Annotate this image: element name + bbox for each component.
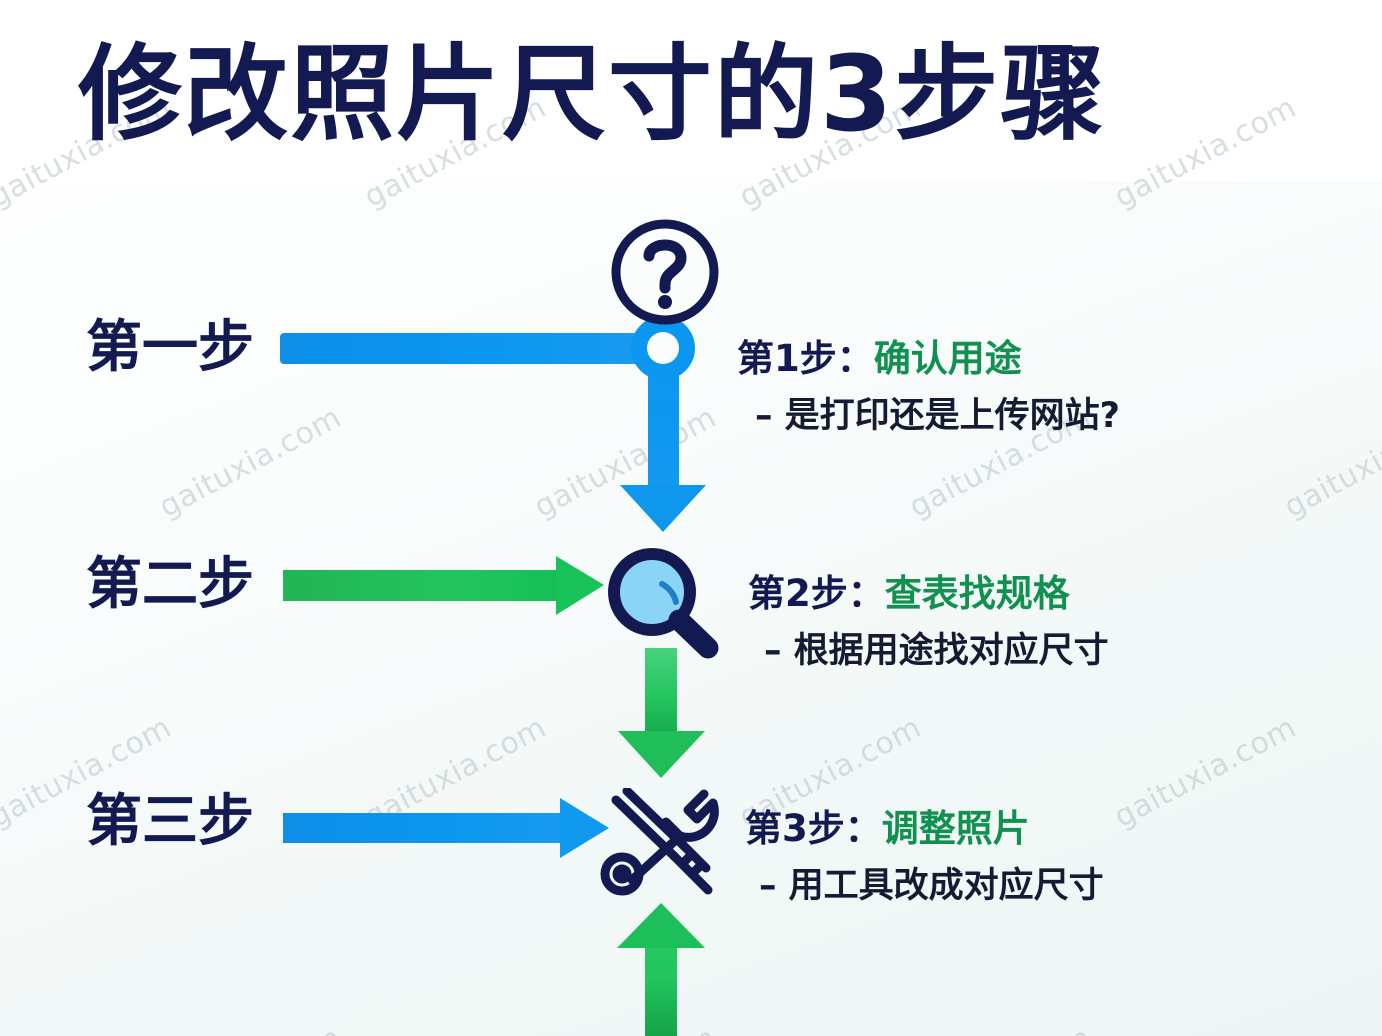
connector-step2-arrow — [283, 556, 604, 615]
step-3-detail: – 用工具改成对应尺寸 — [745, 864, 1104, 908]
step-1-heading: 第1步：确认用途 — [737, 336, 1120, 382]
step-1-title: 确认用途 — [874, 337, 1022, 380]
step-label-three: 第三步 — [86, 792, 254, 852]
step-description-1: 第1步：确认用途 – 是打印还是上传网站? — [737, 336, 1120, 438]
step-2-title: 查表找规格 — [885, 572, 1070, 615]
wrench-screwdriver-icon — [596, 788, 724, 898]
question-mark-circle-icon — [607, 216, 723, 328]
connector-step2-to-step3-arrow — [618, 648, 705, 778]
step-3-prefix: 第3步： — [745, 807, 882, 850]
step-1-prefix: 第1步： — [737, 337, 874, 380]
magnifier-icon — [600, 542, 724, 664]
infographic-canvas: gaituxia.comgaituxia.comgaituxia.comgait… — [0, 0, 1382, 1036]
connector-step1-bar — [280, 316, 695, 468]
step-description-3: 第3步：调整照片 – 用工具改成对应尺寸 — [745, 806, 1104, 908]
step-1-detail: – 是打印还是上传网站? — [737, 394, 1120, 438]
step-2-heading: 第2步：查表找规格 — [748, 571, 1109, 617]
connector-bottom-up-arrow — [617, 903, 705, 1036]
connector-step1-to-step2-arrow — [620, 400, 706, 532]
step-label-two: 第二步 — [86, 555, 254, 615]
step-label-one: 第一步 — [86, 318, 254, 378]
step-2-prefix: 第2步： — [748, 572, 885, 615]
step-3-heading: 第3步：调整照片 — [745, 806, 1104, 852]
connector-step3-arrow — [283, 798, 609, 858]
step-2-detail: – 根据用途找对应尺寸 — [748, 629, 1109, 673]
step-description-2: 第2步：查表找规格 – 根据用途找对应尺寸 — [748, 571, 1109, 673]
step-3-title: 调整照片 — [882, 807, 1030, 850]
